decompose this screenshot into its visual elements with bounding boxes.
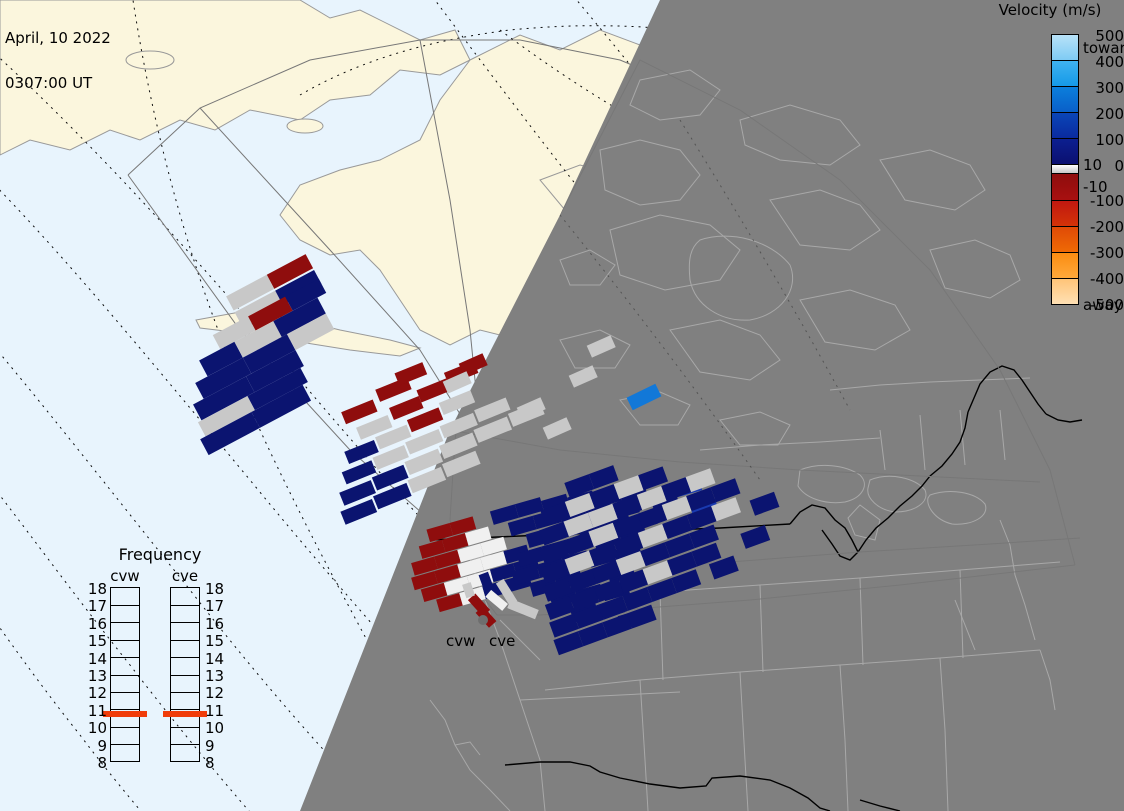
frequency-tick-right-16: 16 (205, 615, 229, 633)
frequency-column-label-cvw: cvw (110, 567, 140, 585)
frequency-marker-cvw (103, 711, 147, 717)
colorbar-segment-neg300-400 (1051, 252, 1079, 278)
frequency-tick-left-13: 13 (83, 667, 107, 685)
frequency-tick-right-17: 17 (205, 597, 229, 615)
colorbar-tick-neg200: -200 (1076, 218, 1124, 236)
frequency-tick-left-15: 15 (83, 632, 107, 650)
colorbar-segment-300-400 (1051, 60, 1079, 86)
frequency-tick-right-15: 15 (205, 632, 229, 650)
velocity-colorbar: Velocity (m/s) 500 400 300 200 100 0 -10… (970, 0, 1124, 340)
frequency-tick-right-9: 9 (205, 737, 229, 755)
colorbar-tick-neg400: -400 (1076, 270, 1124, 288)
frequency-bar-cve (170, 587, 200, 762)
colorbar-tick-300: 300 (1076, 79, 1124, 97)
radar-site-label-cvw: cvw (446, 632, 475, 650)
colorbar-segment-zero (1051, 164, 1079, 173)
colorbar-tick-neg300: -300 (1076, 244, 1124, 262)
radar-site-label-cve: cve (489, 632, 515, 650)
frequency-legend: Frequency cvw cve (85, 545, 235, 780)
colorbar-segment-200-300 (1051, 86, 1079, 112)
colorbar-gradient (1051, 34, 1079, 324)
frequency-tick-right-18: 18 (205, 580, 229, 598)
frequency-tick-left-8: 8 (83, 754, 107, 772)
colorbar-tick-200: 200 (1076, 105, 1124, 123)
frequency-title: Frequency (85, 545, 235, 564)
frequency-tick-right-10: 10 (205, 719, 229, 737)
frequency-tick-left-16: 16 (83, 615, 107, 633)
colorbar-away-label: away (1083, 296, 1123, 314)
frequency-tick-left-11: 11 (83, 702, 107, 720)
frequency-tick-right-8: 8 (205, 754, 229, 772)
colorbar-title: Velocity (m/s) (976, 1, 1124, 19)
colorbar-segment-100-200 (1051, 112, 1079, 138)
colorbar-segment-neg100-200 (1051, 200, 1079, 226)
frequency-tick-right-11: 11 (205, 702, 229, 720)
frequency-tick-left-17: 17 (83, 597, 107, 615)
frequency-bar-cvw (110, 587, 140, 762)
radar-map-canvas: April, 10 2022 0307:00 UT cvw cve Veloci… (0, 0, 1124, 811)
frequency-tick-right-13: 13 (205, 667, 229, 685)
frequency-marker-cve (163, 711, 207, 717)
frequency-tick-right-12: 12 (205, 684, 229, 702)
colorbar-segment-10-100 (1051, 138, 1079, 164)
frequency-tick-right-14: 14 (205, 650, 229, 668)
frequency-tick-left-14: 14 (83, 650, 107, 668)
colorbar-zero-lower-label: -10 (1083, 178, 1108, 196)
frequency-tick-left-18: 18 (83, 580, 107, 598)
frequency-column-label-cve: cve (170, 567, 200, 585)
timestamp-time: 0307:00 UT (5, 76, 111, 91)
colorbar-segment-neg200-300 (1051, 226, 1079, 252)
frequency-tick-left-9: 9 (83, 737, 107, 755)
colorbar-segment-400-500 (1051, 34, 1079, 60)
frequency-tick-left-12: 12 (83, 684, 107, 702)
frequency-tick-left-10: 10 (83, 719, 107, 737)
colorbar-tick-100: 100 (1076, 131, 1124, 149)
colorbar-segment-neg400-500 (1051, 278, 1079, 305)
timestamp-date: April, 10 2022 (5, 31, 111, 46)
timestamp-overlay: April, 10 2022 0307:00 UT (5, 1, 111, 121)
colorbar-toward-label: toward (1083, 39, 1124, 57)
colorbar-zero-upper-label: 10 (1083, 156, 1102, 174)
colorbar-segment-neg10-100 (1051, 173, 1079, 200)
